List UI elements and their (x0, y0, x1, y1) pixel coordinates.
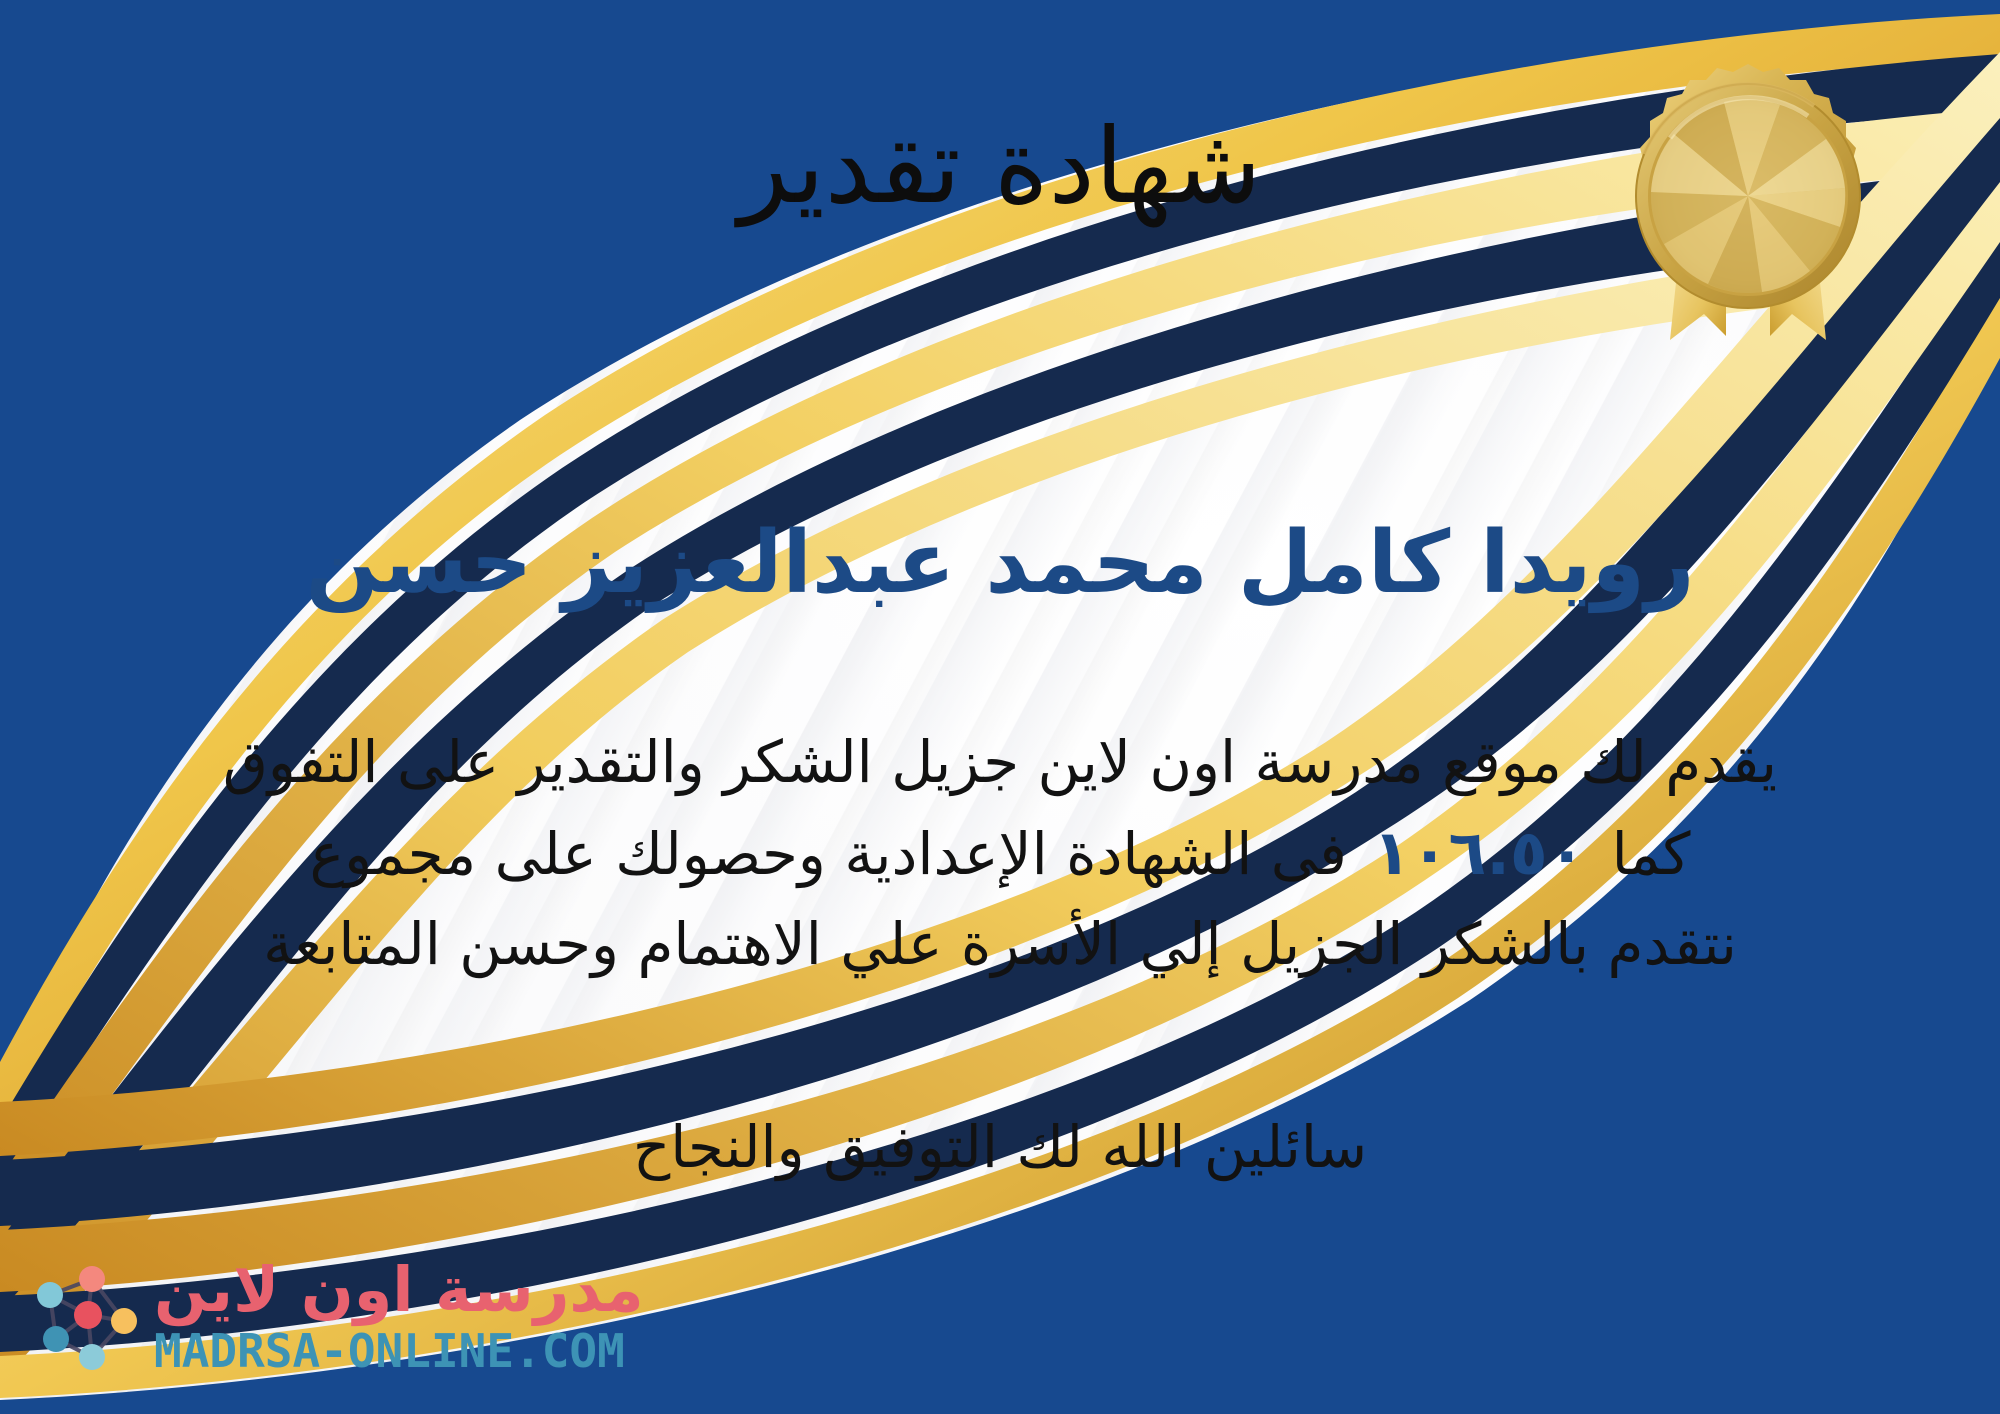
logo-website-url: MADRSA-ONLINE.COM (154, 1327, 644, 1377)
certificate-content: شهادة تقدير رويدا كامل محمد عبدالعزيز حس… (0, 0, 2000, 1414)
brand-logo[interactable]: مدرسة اون لاين MADRSA-ONLINE.COM (26, 1248, 586, 1388)
certificate-canvas: شهادة تقدير رويدا كامل محمد عبدالعزيز حس… (0, 0, 2000, 1414)
network-nodes-icon (26, 1259, 144, 1377)
body-line-3: نتقدم بالشكر الجزيل إلي الأسرة علي الاهت… (60, 900, 1940, 988)
logo-arabic-name: مدرسة اون لاين (154, 1259, 644, 1321)
body-line-2-prefix: فى الشهادة الإعدادية وحصولك على مجموع (310, 810, 1347, 898)
body-line-2-suffix: كما (1612, 810, 1691, 898)
logo-wordmark: مدرسة اون لاين MADRSA-ONLINE.COM (154, 1259, 644, 1377)
recipient-name: رويدا كامل محمد عبدالعزيز حسن (0, 512, 2000, 615)
body-line-1: يقدم لك موقع مدرسة اون لاين جزيل الشكر و… (60, 718, 1940, 806)
grade-total-value: ١٠٦.٥٠ (1347, 806, 1612, 900)
certificate-body: يقدم لك موقع مدرسة اون لاين جزيل الشكر و… (60, 718, 1940, 989)
page-title: شهادة تقدير (0, 108, 2000, 224)
closing-wish: سائلين الله لك التوفيق والنجاح (0, 1104, 2000, 1191)
body-line-2: كما ١٠٦.٥٠ فى الشهادة الإعدادية وحصولك ع… (60, 806, 1940, 900)
